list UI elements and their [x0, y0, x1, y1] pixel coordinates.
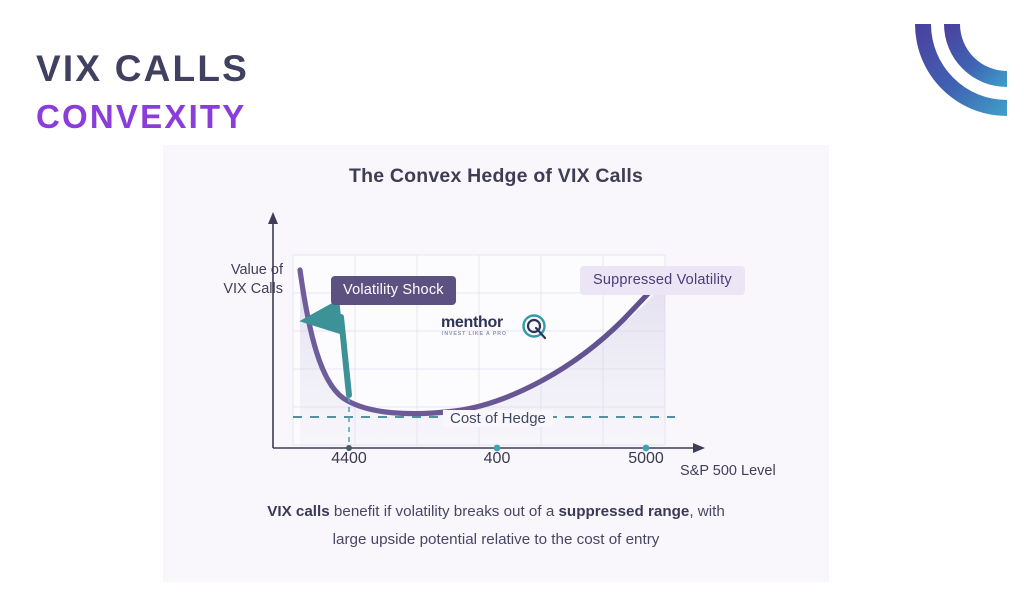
volatility-shock-badge: Volatility Shock: [331, 276, 456, 305]
menthor-tagline: INVEST LIKE A PRO: [442, 331, 507, 337]
menthor-wordmark: menthor: [441, 314, 503, 332]
suppressed-volatility-badge: Suppressed Volatility: [580, 266, 745, 295]
cost-of-hedge-label: Cost of Hedge: [443, 410, 553, 427]
caption-line1-end: , with: [689, 503, 724, 520]
x-axis-label: S&P 500 Level: [680, 463, 776, 479]
menthor-watermark: menthor INVEST LIKE A PRO: [441, 313, 557, 343]
xtick-label-4400: 4400: [331, 450, 367, 468]
menthor-q-icon: [521, 313, 549, 341]
caption-bold-vix-calls: VIX calls: [267, 503, 329, 520]
chart-caption: VIX calls benefit if volatility breaks o…: [188, 498, 804, 555]
y-axis-label-line1: Value of: [191, 261, 283, 280]
caption-bold-suppressed-range: suppressed range: [558, 503, 689, 520]
xtick-label-400: 400: [484, 450, 511, 468]
y-axis-label: Value of VIX Calls: [191, 261, 283, 298]
xtick-label-5000: 5000: [628, 450, 664, 468]
chart-panel: The Convex Hedge of VIX Calls: [163, 145, 829, 582]
brand-arcs-logo: [886, 18, 1018, 140]
caption-line1: VIX calls benefit if volatility breaks o…: [188, 498, 804, 526]
caption-line1-mid: benefit if volatility breaks out of a: [330, 503, 559, 520]
brand-arcs-icon: [886, 18, 1018, 140]
slide-root: VIX CALLS CONVEXITY The Convex Hedge of …: [0, 0, 1024, 598]
page-subtitle: CONVEXITY: [36, 100, 247, 133]
y-axis-label-line2: VIX Calls: [191, 280, 283, 299]
page-title: VIX CALLS: [36, 50, 249, 87]
caption-line2: large upside potential relative to the c…: [188, 526, 804, 554]
